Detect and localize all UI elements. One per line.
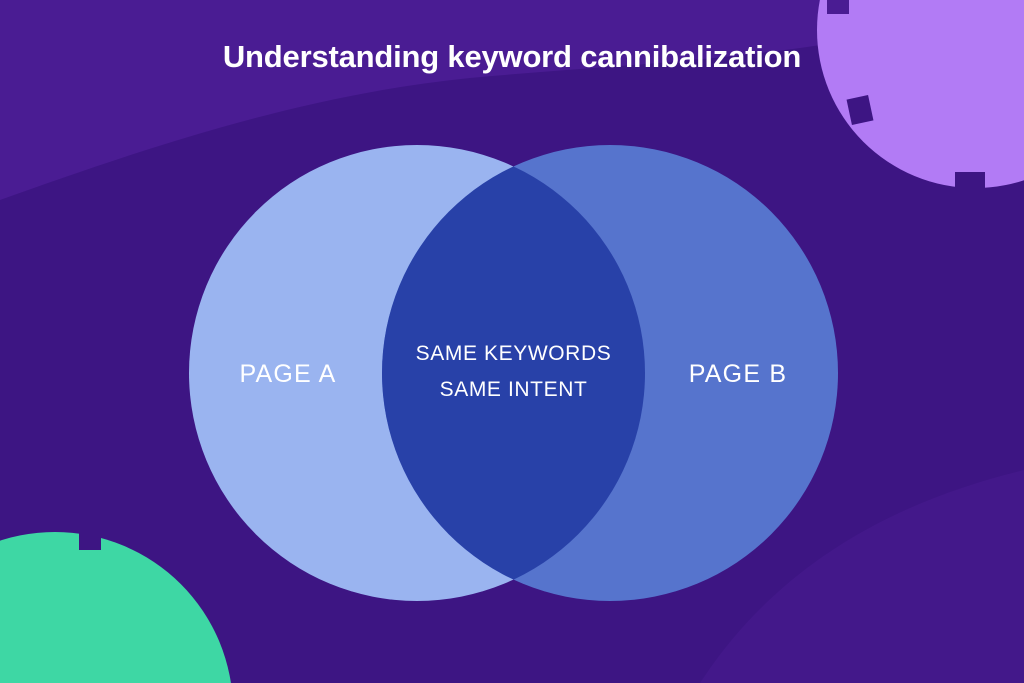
venn-label-page-b: PAGE B — [640, 360, 836, 389]
infographic-canvas: Understanding keyword cannibalization PA… — [0, 0, 1024, 683]
venn-label-overlap-line1: SAME KEYWORDS — [385, 336, 642, 372]
venn-label-page-a: PAGE A — [190, 360, 386, 389]
venn-label-overlap-line2: SAME INTENT — [385, 372, 642, 408]
page-title: Understanding keyword cannibalization — [0, 38, 1024, 75]
venn-label-overlap: SAME KEYWORDS SAME INTENT — [385, 336, 642, 408]
